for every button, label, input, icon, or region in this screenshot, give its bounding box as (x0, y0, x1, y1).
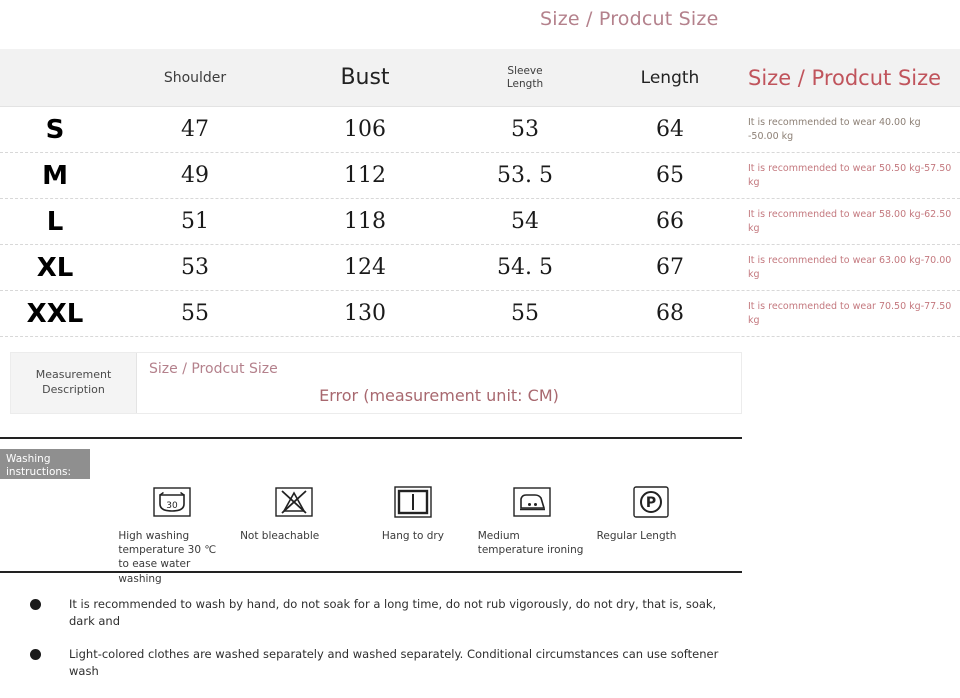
measurement-description-block: Measurement Description Size / Prodcut S… (10, 352, 742, 414)
measurement-top-text: Size / Prodcut Size (149, 361, 278, 377)
cell-sleeve: 54. 5 (450, 255, 600, 280)
cell-recommendation: It is recommended to wear 50.50 kg-57.50… (740, 162, 960, 190)
bullet-icon (30, 599, 41, 610)
header-shoulder: Shoulder (110, 70, 280, 86)
care-item-regular-length: P Regular Length (591, 482, 710, 586)
table-row: M 49 112 53. 5 65 It is recommended to w… (0, 153, 960, 199)
cell-length: 65 (600, 163, 740, 188)
cell-length: 66 (600, 209, 740, 234)
no-bleach-icon (273, 482, 315, 522)
cell-shoulder: 55 (110, 301, 280, 326)
cell-recommendation: It is recommended to wear 40.00 kg -50.0… (740, 116, 960, 144)
cell-shoulder: 49 (110, 163, 280, 188)
size-chart-page: Size / Prodcut Size Shoulder Bust Sleeve… (0, 0, 960, 698)
care-caption: Regular Length (597, 529, 705, 543)
cell-shoulder: 47 (110, 117, 280, 142)
header-sleeve-length-line1: Sleeve (450, 65, 600, 77)
washing-notes-list: It is recommended to wash by hand, do no… (30, 596, 730, 698)
measurement-description-body: Size / Prodcut Size Error (measurement u… (137, 353, 741, 413)
cell-sleeve: 53 (450, 117, 600, 142)
care-item-hang-to-dry: Hang to dry (354, 482, 473, 586)
care-caption: Hang to dry (354, 529, 472, 543)
care-caption: Medium temperature ironing (478, 529, 586, 557)
hang-to-dry-icon (392, 482, 434, 522)
header-sleeve-length-line2: Length (450, 78, 600, 90)
cell-recommendation: It is recommended to wear 70.50 kg-77.50… (740, 300, 960, 328)
cell-shoulder: 53 (110, 255, 280, 280)
cell-sleeve: 55 (450, 301, 600, 326)
table-row: XXL 55 130 55 68 It is recommended to we… (0, 291, 960, 337)
cell-size: XXL (0, 299, 110, 329)
care-item-iron-medium: Medium temperature ironing (472, 482, 591, 586)
cell-length: 68 (600, 301, 740, 326)
measurement-description-label: Measurement Description (11, 353, 137, 413)
table-row: S 47 106 53 64 It is recommended to wear… (0, 107, 960, 153)
cell-bust: 106 (280, 117, 450, 142)
cell-bust: 112 (280, 163, 450, 188)
wash-tub-30-icon: 30 (151, 482, 193, 522)
cell-size: XL (0, 253, 110, 283)
care-caption: High washing temperature 30 ℃ to ease wa… (118, 529, 226, 586)
cell-sleeve: 53. 5 (450, 163, 600, 188)
cell-size: S (0, 115, 110, 145)
list-item: It is recommended to wash by hand, do no… (30, 596, 730, 629)
size-table-header-row: Shoulder Bust Sleeve Length Length Size … (0, 49, 960, 107)
care-caption: Not bleachable (240, 529, 348, 543)
washing-instructions-tag: Washing instructions: (0, 449, 90, 479)
measurement-label-line1: Measurement (36, 368, 112, 383)
header-recommendation: Size / Prodcut Size (740, 66, 960, 90)
cell-bust: 130 (280, 301, 450, 326)
measurement-error-text: Error (measurement unit: CM) (137, 386, 741, 405)
cell-length: 67 (600, 255, 740, 280)
cell-size: M (0, 161, 110, 191)
cell-bust: 124 (280, 255, 450, 280)
size-table: Shoulder Bust Sleeve Length Length Size … (0, 49, 960, 337)
divider-above-washing (0, 437, 742, 439)
cell-length: 64 (600, 117, 740, 142)
washing-tag-line2: instructions: (6, 466, 84, 479)
top-banner-title: Size / Prodcut Size (540, 8, 718, 30)
header-bust: Bust (280, 65, 450, 90)
cell-bust: 118 (280, 209, 450, 234)
cell-recommendation: It is recommended to wear 58.00 kg-62.50… (740, 208, 960, 236)
svg-text:30: 30 (167, 501, 179, 511)
cell-sleeve: 54 (450, 209, 600, 234)
note-text: It is recommended to wash by hand, do no… (69, 596, 730, 629)
bullet-icon (30, 649, 41, 660)
cell-size: L (0, 207, 110, 237)
cell-recommendation: It is recommended to wear 63.00 kg-70.00… (740, 254, 960, 282)
care-item-wash-temperature: 30 High washing temperature 30 ℃ to ease… (110, 482, 235, 586)
iron-medium-icon (511, 482, 553, 522)
list-item: Light-colored clothes are washed separat… (30, 646, 730, 679)
care-item-no-bleach: Not bleachable (235, 482, 354, 586)
regular-length-p-icon: P (630, 482, 672, 522)
header-length: Length (600, 68, 740, 88)
cell-shoulder: 51 (110, 209, 280, 234)
washing-tag-line1: Washing (6, 453, 84, 466)
note-text: Light-colored clothes are washed separat… (69, 646, 730, 679)
table-row: L 51 118 54 66 It is recommended to wear… (0, 199, 960, 245)
header-sleeve-length: Sleeve Length (450, 65, 600, 90)
care-icon-row: 30 High washing temperature 30 ℃ to ease… (110, 482, 710, 586)
table-row: XL 53 124 54. 5 67 It is recommended to … (0, 245, 960, 291)
svg-text:P: P (645, 495, 655, 511)
measurement-label-line2: Description (36, 383, 112, 398)
